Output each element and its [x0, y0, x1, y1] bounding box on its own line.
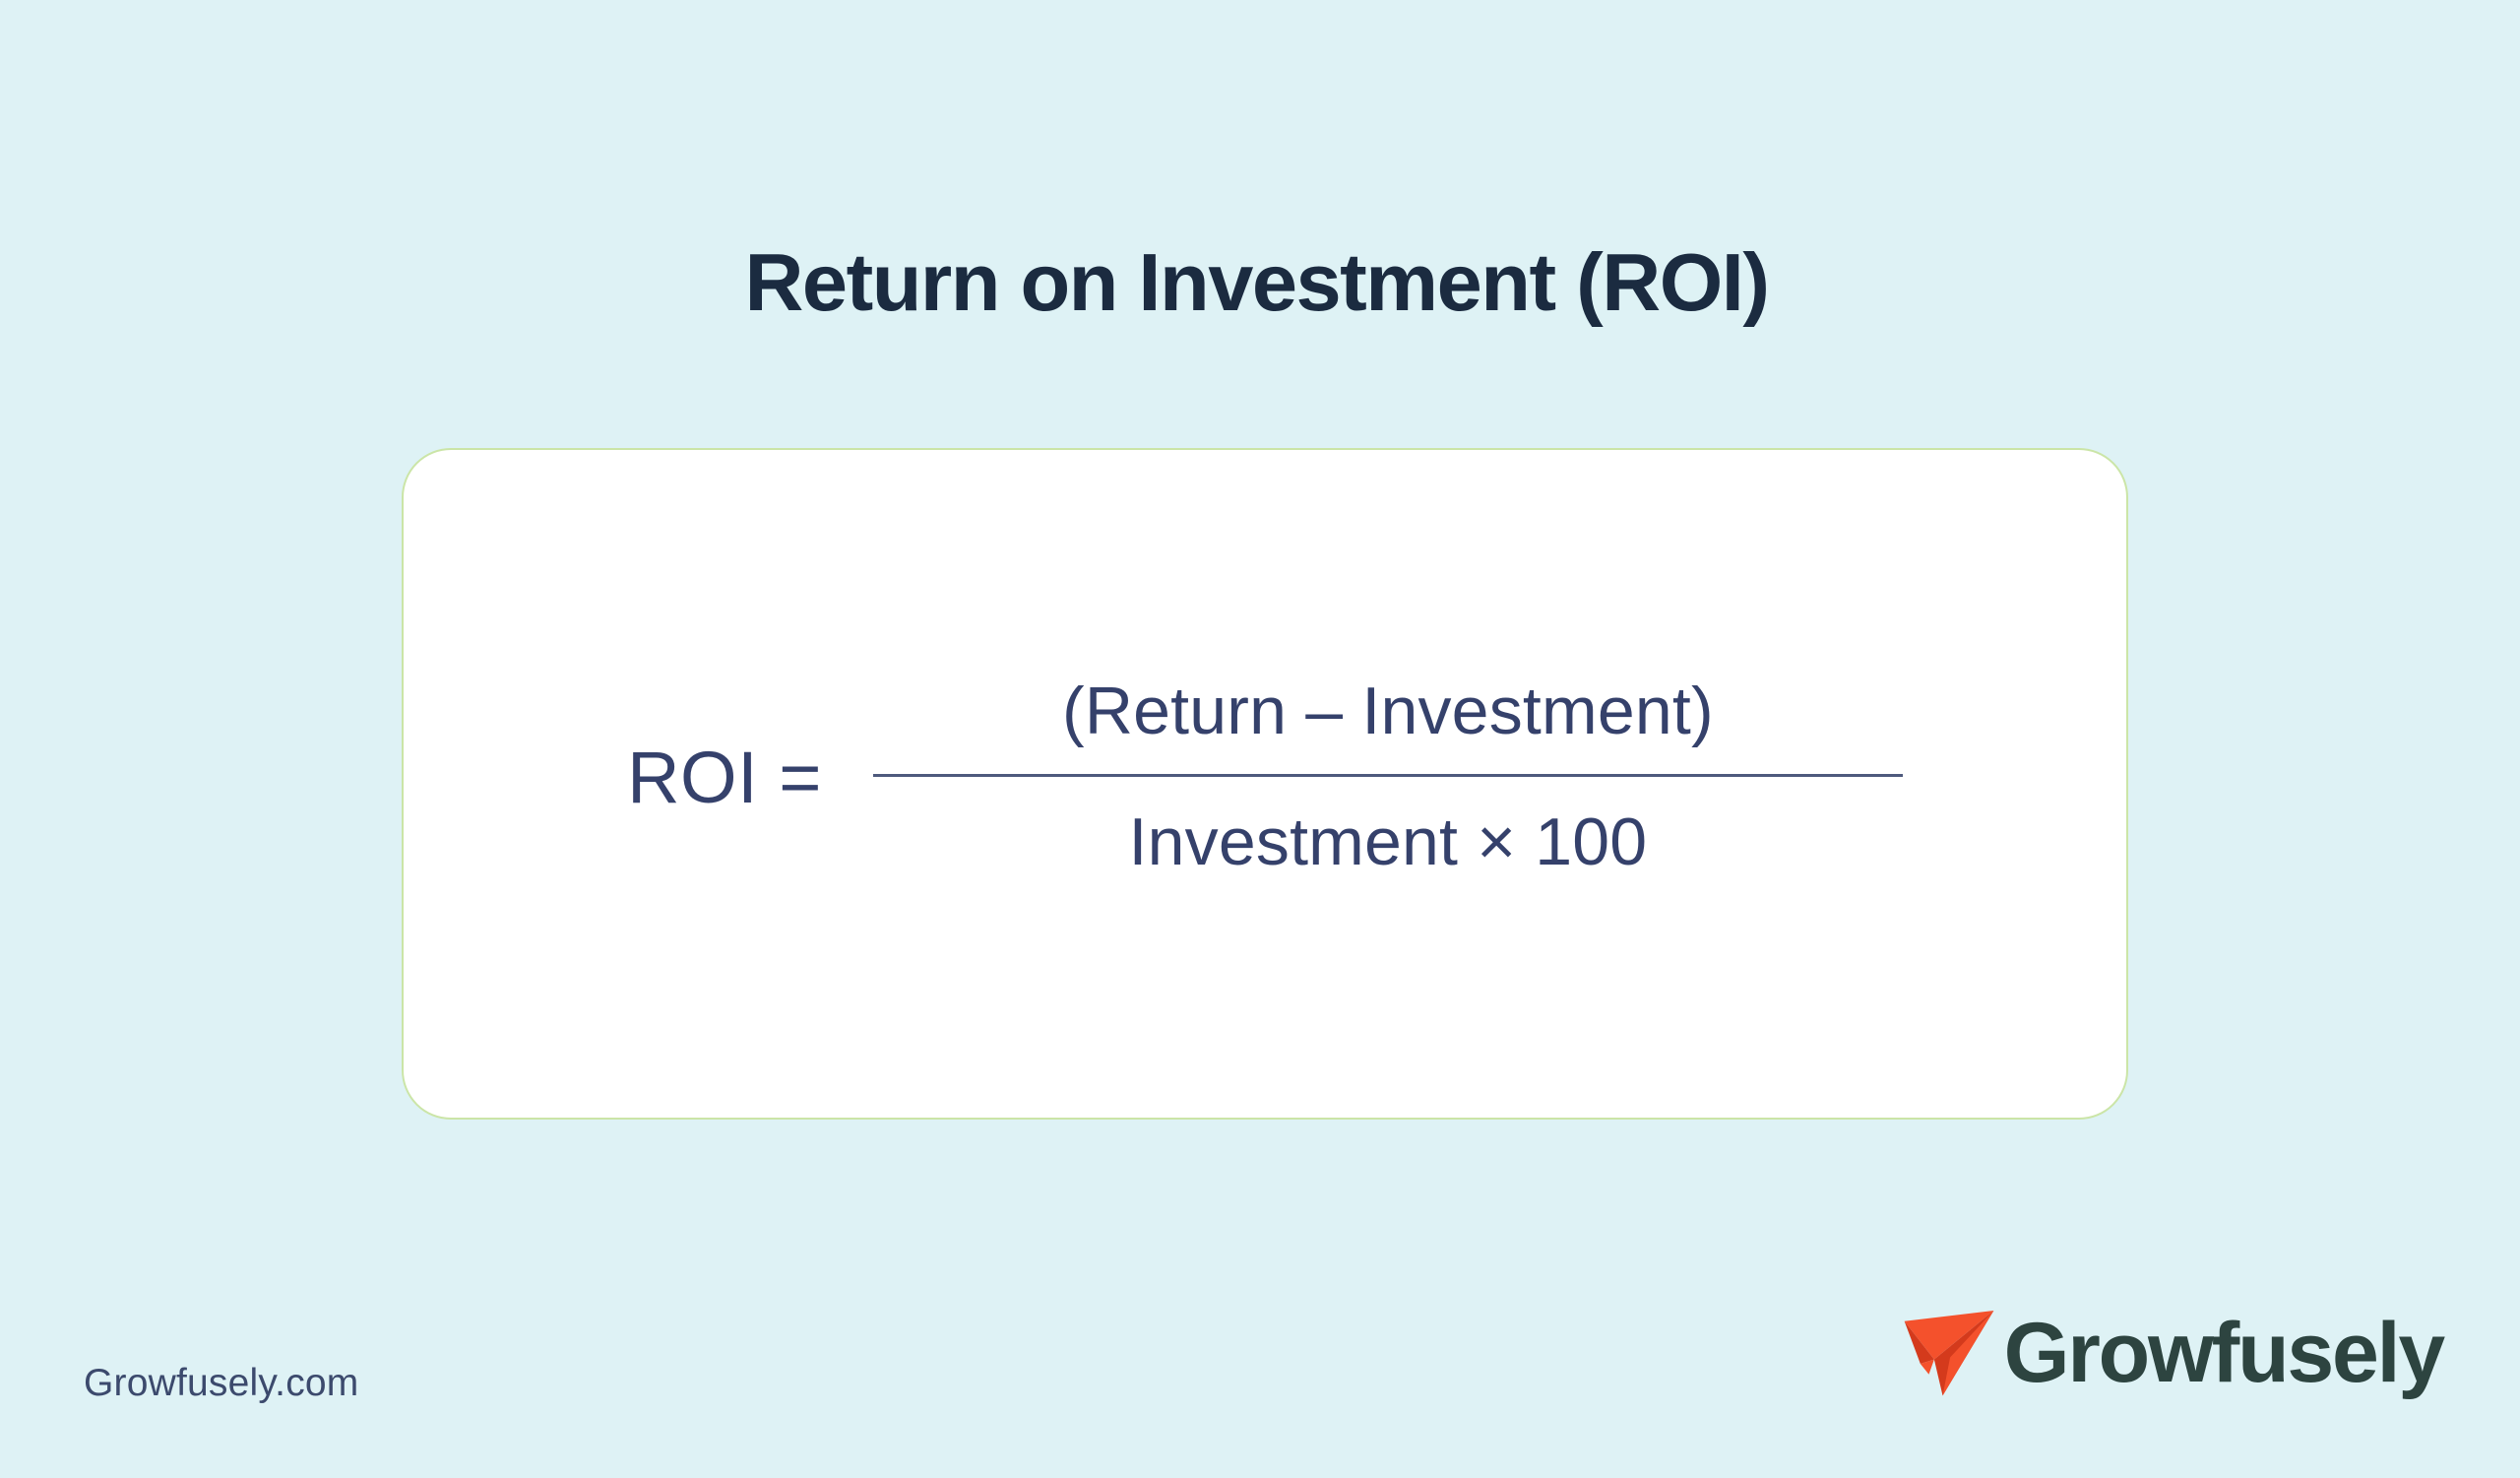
- formula-label: ROI =: [627, 736, 822, 819]
- slide-canvas: Return on Investment (ROI) ROI = (Return…: [0, 0, 2520, 1478]
- formula-row: ROI = (Return – Investment) Investment ×…: [404, 450, 2126, 1118]
- fraction-denominator: Investment × 100: [1129, 808, 1648, 875]
- brand-logo: Growfusely: [1896, 1298, 2443, 1404]
- fraction-numerator: (Return – Investment): [1062, 677, 1714, 744]
- formula-card: ROI = (Return – Investment) Investment ×…: [402, 448, 2128, 1120]
- formula-fraction: (Return – Investment) Investment × 100: [873, 677, 1903, 875]
- brand-name: Growfusely: [2004, 1311, 2443, 1395]
- paper-plane-icon: [1896, 1298, 2002, 1404]
- page-title: Return on Investment (ROI): [0, 237, 2513, 327]
- footer-website-url: Growfusely.com: [84, 1362, 358, 1405]
- formula-expression: ROI = (Return – Investment) Investment ×…: [627, 677, 1903, 875]
- fraction-bar: [873, 774, 1903, 777]
